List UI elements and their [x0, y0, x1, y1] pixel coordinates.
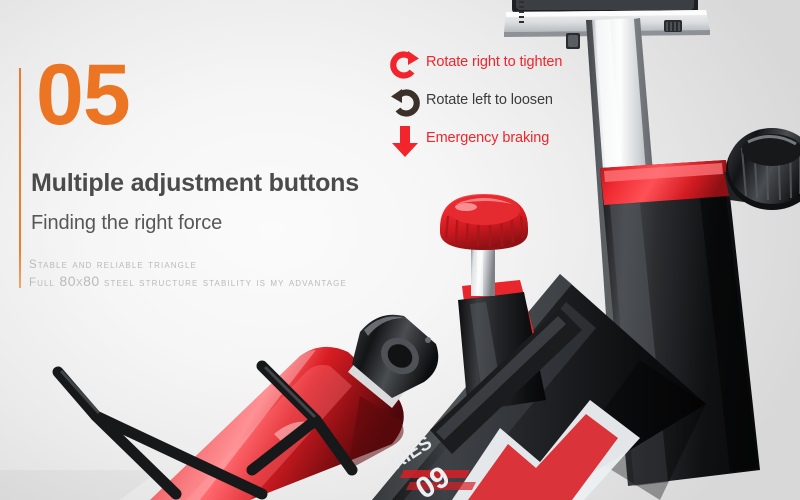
chrome-seat-post	[586, 18, 672, 404]
legend: Rotate right to tighten Rotate left to l…	[388, 48, 588, 162]
legend-label-tighten: Rotate right to tighten	[426, 54, 562, 70]
legend-item-loosen: Rotate left to loosen	[388, 86, 588, 124]
caption-line-2: Full 80x80 steel structure stability is …	[29, 273, 347, 291]
caption-line-1: Stable and reliable triangle	[29, 257, 347, 273]
page-title: Multiple adjustment buttons	[31, 169, 359, 198]
frame-decals: RIES 09	[387, 432, 476, 500]
legend-item-braking: Emergency braking	[388, 124, 588, 162]
lower-crossbar	[430, 308, 582, 454]
legend-label-loosen: Rotate left to loosen	[426, 92, 553, 108]
text-panel: 05 Multiple adjustment buttons Finding t…	[0, 0, 400, 500]
frame-model-text: 09	[410, 460, 456, 500]
frame-x-logo	[452, 400, 640, 500]
rotate-clockwise-icon	[388, 48, 422, 82]
caption-size-value: 80x80	[59, 273, 99, 289]
page-subtitle: Finding the right force	[31, 212, 222, 235]
caption-line-2-suffix: steel structure stability is my advantag…	[100, 277, 347, 289]
caption-block: Stable and reliable triangle Full 80x80 …	[29, 257, 347, 291]
console-bracket	[504, 0, 710, 49]
legend-label-braking: Emergency braking	[426, 130, 549, 146]
step-number: 05	[36, 52, 130, 138]
caption-line-2-prefix: Full	[29, 277, 59, 289]
arrow-down-icon	[388, 124, 422, 158]
accent-rule	[19, 68, 21, 288]
slide-canvas: RIES 09	[0, 0, 800, 500]
legend-item-tighten: Rotate right to tighten	[388, 48, 588, 86]
black-adjust-knob	[726, 128, 800, 210]
red-adjust-knob-assembly	[440, 194, 546, 412]
main-frame-tube	[372, 274, 706, 500]
seat-tube-assembly	[600, 160, 772, 486]
red-collar	[600, 160, 730, 205]
rotate-counterclockwise-icon	[388, 86, 422, 120]
